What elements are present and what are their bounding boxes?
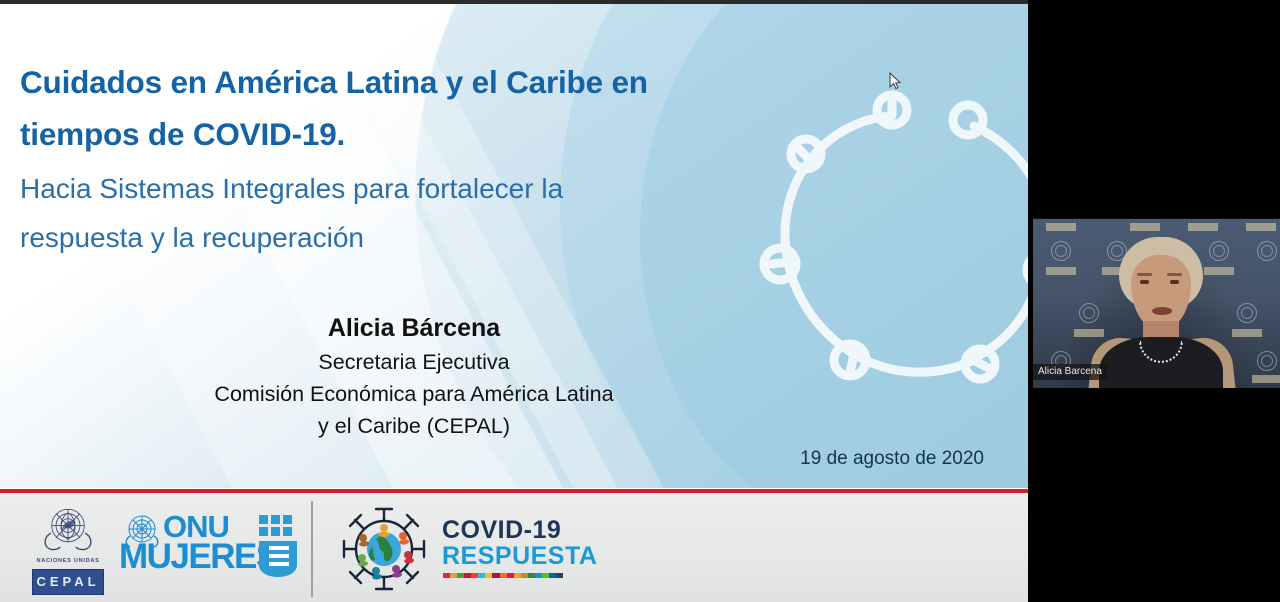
face — [1131, 255, 1191, 329]
onu-mujeres-mark-icon — [257, 513, 301, 577]
sdg-color-segment — [542, 573, 549, 578]
backdrop-un-emblem-icon — [1257, 241, 1277, 261]
sdg-color-segment — [521, 573, 528, 578]
presentation-slide[interactable]: Cuidados en América Latina y el Caribe e… — [0, 4, 1028, 602]
sdg-color-segment — [500, 573, 507, 578]
sdg-color-segment — [471, 573, 478, 578]
screen-capture: Cuidados en América Latina y el Caribe e… — [0, 0, 1280, 602]
backdrop-cepal-text — [1130, 223, 1160, 231]
sdg-color-segment — [457, 573, 464, 578]
covid19-wordmark: COVID-19 — [442, 517, 561, 543]
slide-subtitle-line-2: respuesta y la recuperación — [20, 213, 780, 262]
onu-mujeres-logo: ONU MUJERES — [119, 511, 301, 587]
backdrop-un-emblem-icon — [1079, 303, 1099, 323]
presenter-org-line-1: Comisión Económica para América Latina — [0, 378, 828, 410]
slide-subtitle: Hacia Sistemas Integrales para fortalece… — [20, 164, 780, 262]
sdg-color-segment — [549, 573, 556, 578]
eye-right — [1170, 280, 1179, 284]
presenter-block: Alicia Bárcena Secretaria Ejecutiva Comi… — [0, 310, 828, 442]
respuesta-wordmark: RESPUESTA — [442, 543, 597, 569]
slide-body: Cuidados en América Latina y el Caribe e… — [0, 4, 1028, 488]
cepal-wordmark: CEPAL — [32, 569, 104, 595]
eye-left — [1140, 280, 1149, 284]
backdrop-un-emblem-icon — [1237, 303, 1257, 323]
footer-divider — [311, 501, 313, 597]
backdrop-cepal-text — [1246, 223, 1276, 231]
slide-subtitle-line-1: Hacia Sistemas Integrales para fortalece… — [20, 164, 780, 213]
mouth — [1152, 307, 1172, 315]
covid-globe-people-icon — [336, 503, 432, 595]
sdg-color-segment — [556, 573, 563, 578]
eyebrow-left — [1137, 273, 1152, 276]
sdg-color-segment — [528, 573, 535, 578]
backdrop-un-emblem-icon — [1257, 351, 1277, 371]
eyebrow-right — [1167, 273, 1182, 276]
presenter-role: Secretaria Ejecutiva — [0, 346, 828, 378]
sdg-color-segment — [485, 573, 492, 578]
participant-avatar — [1105, 237, 1217, 388]
backdrop-cepal-text — [1046, 223, 1076, 231]
backdrop-cepal-text — [1232, 329, 1262, 337]
backdrop-cepal-text — [1252, 375, 1280, 383]
participant-name-label: Alicia Barcena — [1033, 364, 1107, 380]
un-emblem-icon — [32, 501, 104, 557]
slide-title-line-2: tiempos de COVID-19. — [20, 108, 810, 160]
video-participant-tile[interactable]: Alicia Barcena — [1033, 218, 1280, 388]
un-cepal-logo: NACIONES UNIDAS CEPAL — [26, 501, 110, 599]
sdg-color-segment — [535, 573, 542, 578]
backdrop-cepal-text — [1046, 267, 1076, 275]
sdg-color-segment — [492, 573, 499, 578]
sdg-color-segment — [514, 573, 521, 578]
sdg-color-segment — [464, 573, 471, 578]
presenter-org-line-2: y el Caribe (CEPAL) — [0, 410, 828, 442]
slide-footer: NACIONES UNIDAS CEPAL ONU MUJERES — [0, 493, 1028, 602]
sdg-color-segment — [507, 573, 514, 578]
slide-title: Cuidados en América Latina y el Caribe e… — [20, 56, 810, 160]
backdrop-un-emblem-icon — [1051, 241, 1071, 261]
covid19-respuesta-logo: COVID-19 RESPUESTA — [336, 503, 566, 595]
slide-date: 19 de agosto de 2020 — [800, 448, 984, 470]
sdg-color-bar — [443, 573, 563, 578]
sdg-color-segment — [450, 573, 457, 578]
un-emblem-caption: NACIONES UNIDAS — [26, 558, 110, 564]
mujeres-wordmark: MUJERES — [119, 539, 278, 575]
slide-title-line-1: Cuidados en América Latina y el Caribe e… — [20, 56, 810, 108]
mouse-cursor-arrow-icon — [889, 72, 901, 90]
sdg-color-segment — [443, 573, 450, 578]
backdrop-cepal-text — [1074, 329, 1104, 337]
backdrop-cepal-text — [1188, 223, 1218, 231]
presenter-name: Alicia Bárcena — [0, 310, 828, 346]
sdg-color-segment — [478, 573, 485, 578]
